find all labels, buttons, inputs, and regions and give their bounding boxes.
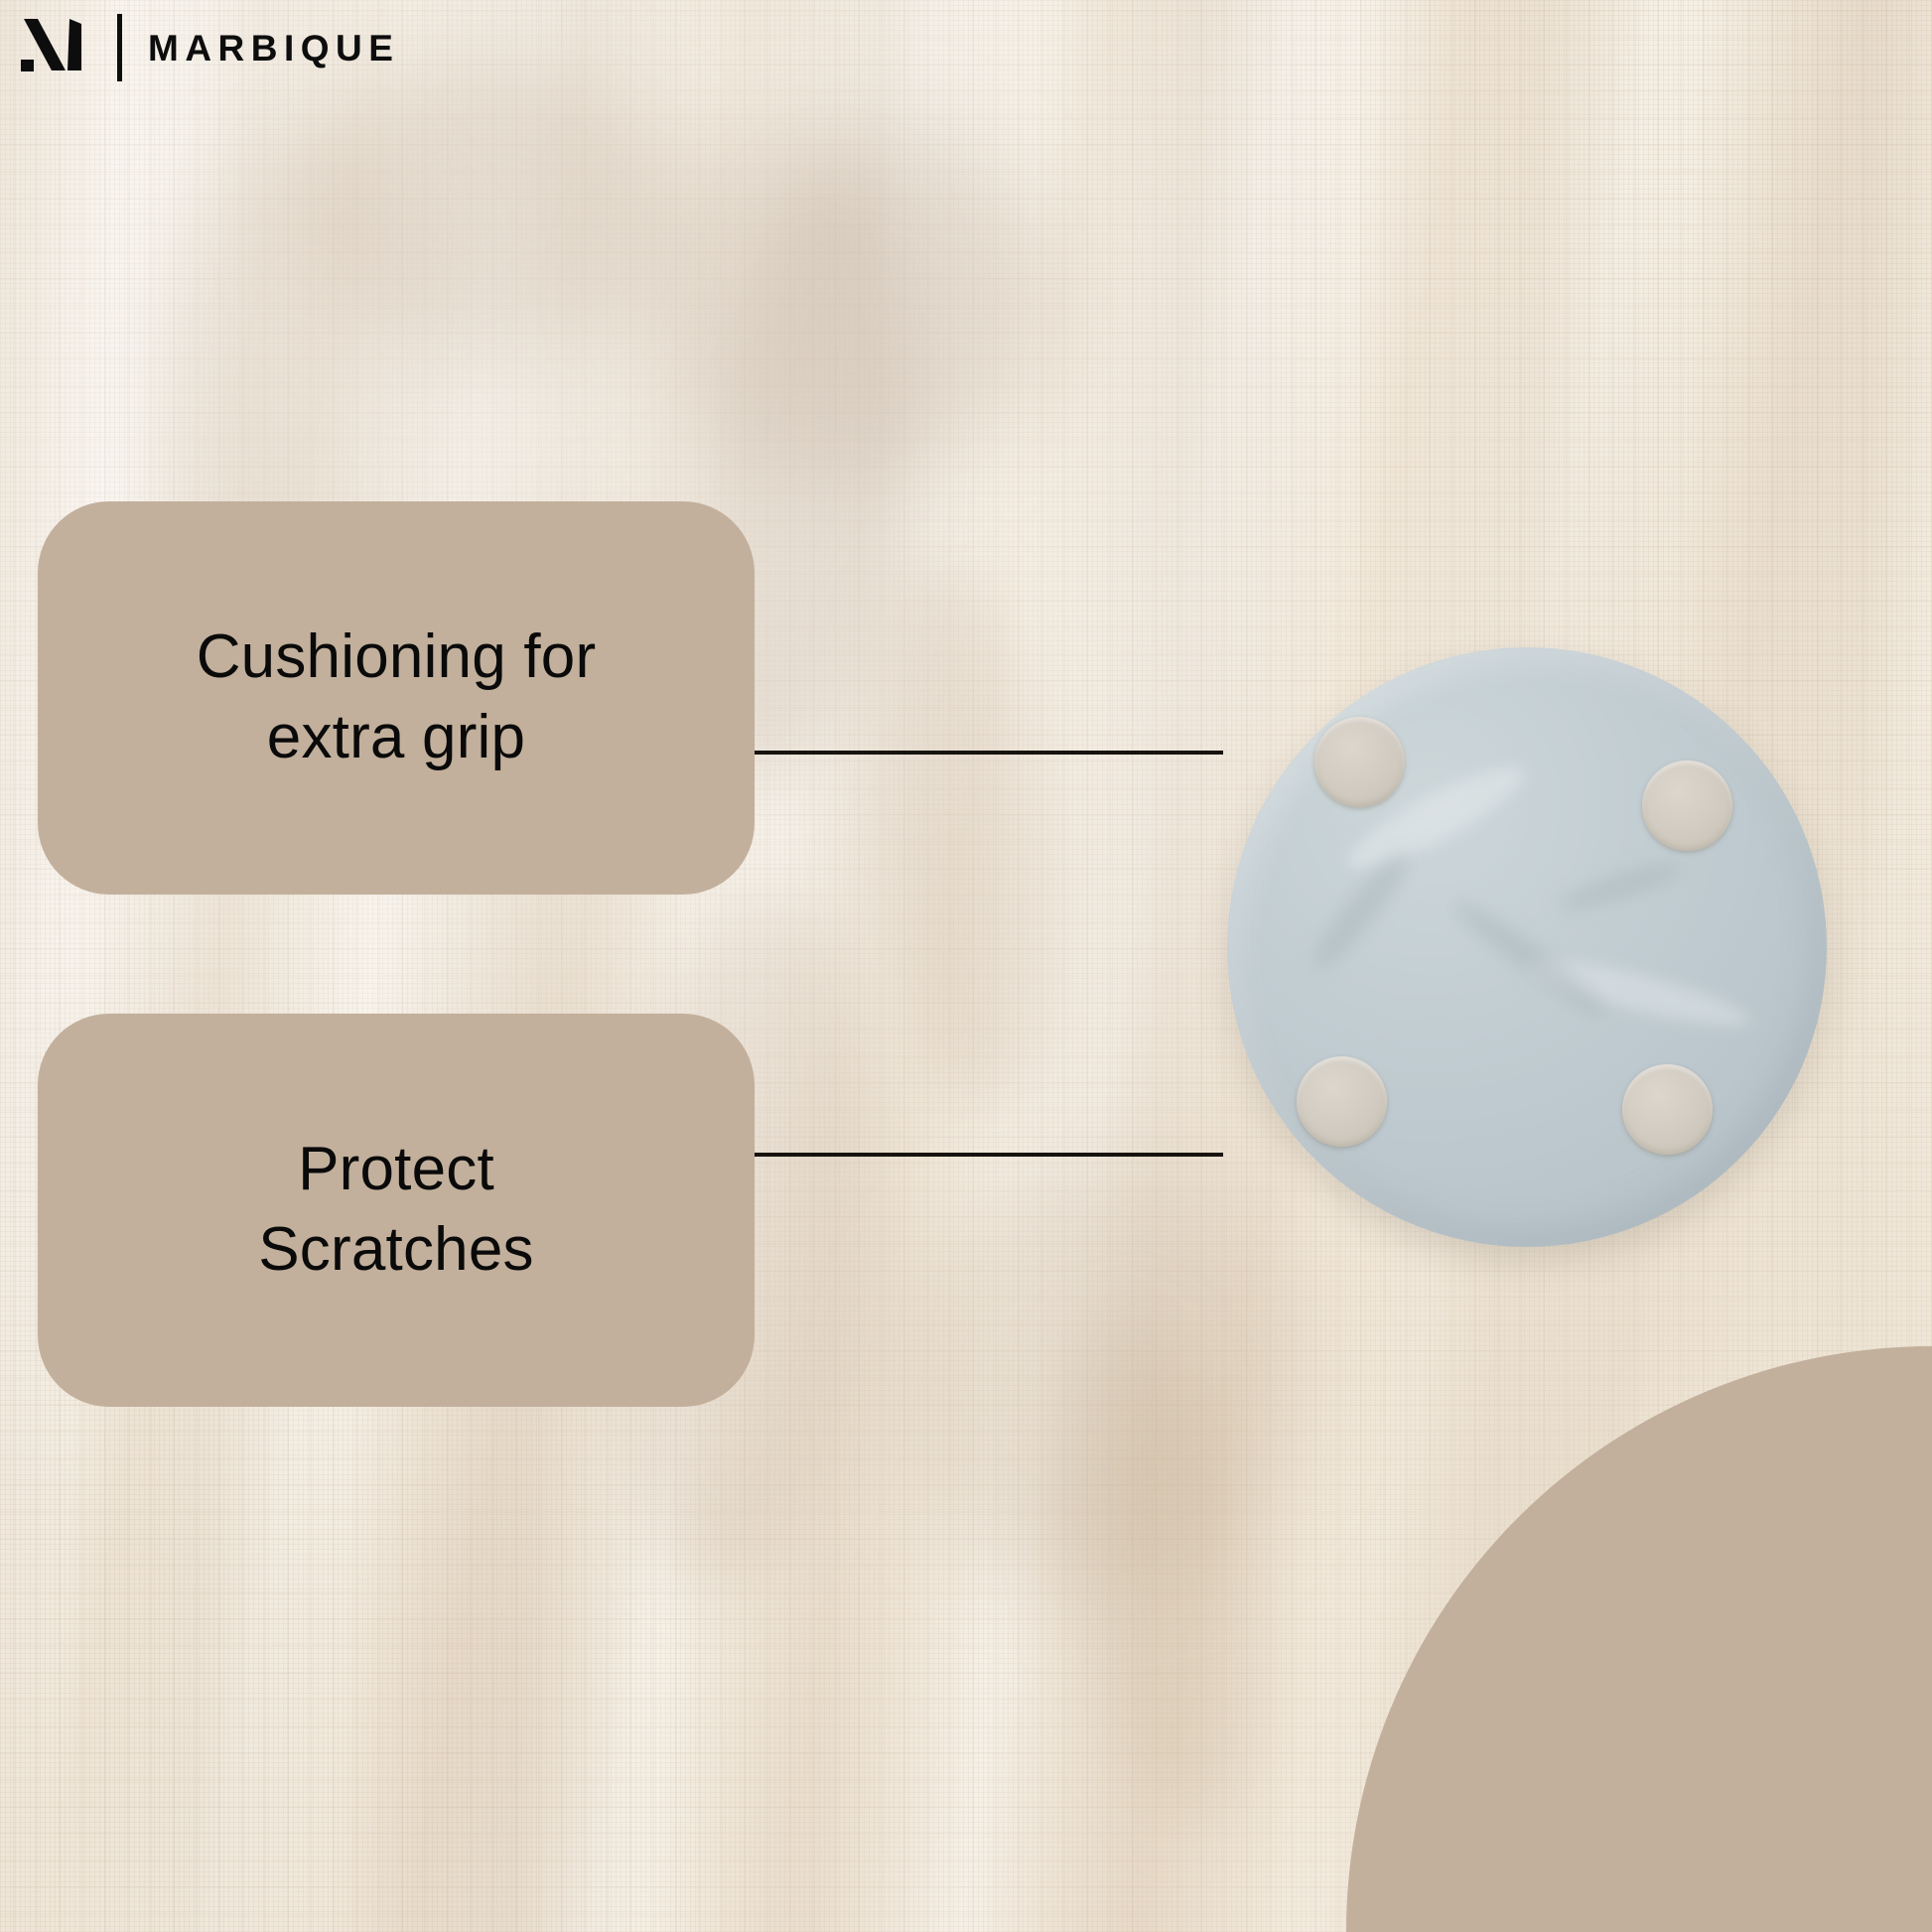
feature-pill-cushioning[interactable]: Cushioning for extra grip [38, 501, 755, 895]
marbique-m-monogram-icon [18, 16, 101, 79]
feature-pill-scratch-protection[interactable]: Protect Scratches [38, 1014, 755, 1407]
product-feature-card: MARBIQUE Cushioning for extra grip Prote… [0, 0, 1932, 1932]
feature-pill-line-2: extra grip [267, 698, 525, 778]
leader-line-icon-cushioning [755, 751, 1223, 755]
brand-logo: MARBIQUE [18, 12, 399, 83]
vertical-bar-divider-icon [117, 14, 122, 81]
feature-pill-line-1: Cushioning for [197, 618, 597, 698]
felt-pad-top-right [1642, 760, 1732, 851]
feature-pill-line-1: Protect [298, 1130, 494, 1210]
felt-pad-bottom-right [1622, 1064, 1713, 1155]
marble-vein [1447, 893, 1614, 1025]
coaster-disc [1227, 647, 1827, 1247]
brand-wordmark: MARBIQUE [148, 30, 399, 67]
felt-pad-top-left [1314, 717, 1405, 807]
felt-pad-bottom-left [1297, 1056, 1387, 1147]
leader-line-icon-scratch-protection [755, 1153, 1223, 1157]
marble-vein [1555, 856, 1684, 916]
product-marble-coaster [1227, 647, 1827, 1247]
feature-pill-line-2: Scratches [258, 1210, 533, 1291]
